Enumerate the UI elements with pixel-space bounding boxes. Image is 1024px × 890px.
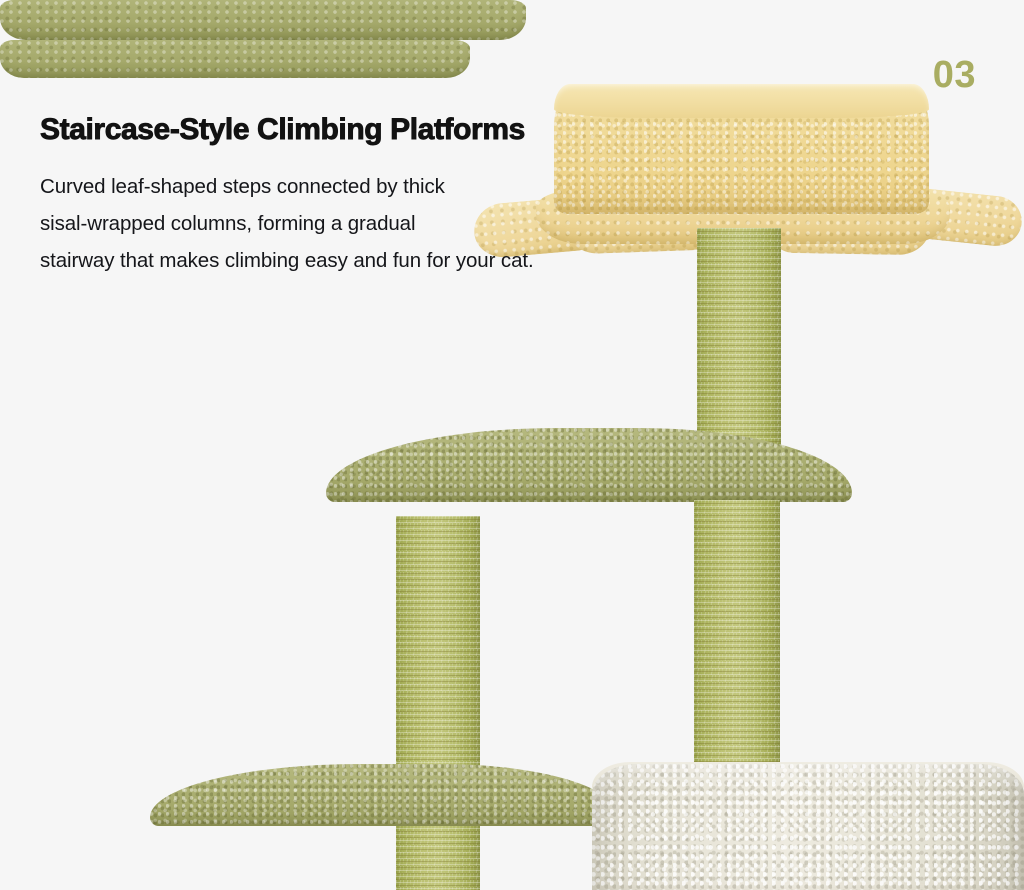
lower-sisal-column-left — [396, 516, 480, 890]
page-title: Staircase-Style Climbing Platforms — [40, 110, 660, 150]
lower-sisal-column-right — [694, 500, 780, 782]
description-line: sisal-wrapped columns, forming a gradual — [40, 205, 660, 242]
description-line: Curved leaf-shaped steps connected by th… — [40, 168, 660, 205]
cream-base-cylinder — [592, 764, 1024, 890]
feature-section: 03 Staircase-Style Climbing Platforms Cu… — [0, 0, 1024, 890]
feature-copy-block: Staircase-Style Climbing Platforms Curve… — [40, 110, 660, 279]
bottom-leaf-platform-edge — [0, 40, 470, 78]
description-line: stairway that makes climbing easy and fu… — [40, 242, 660, 279]
middle-leaf-platform-edge — [0, 0, 526, 40]
step-number-badge: 03 — [933, 56, 976, 94]
bottom-leaf-platform — [150, 764, 620, 826]
feature-description: Curved leaf-shaped steps connected by th… — [40, 168, 660, 279]
